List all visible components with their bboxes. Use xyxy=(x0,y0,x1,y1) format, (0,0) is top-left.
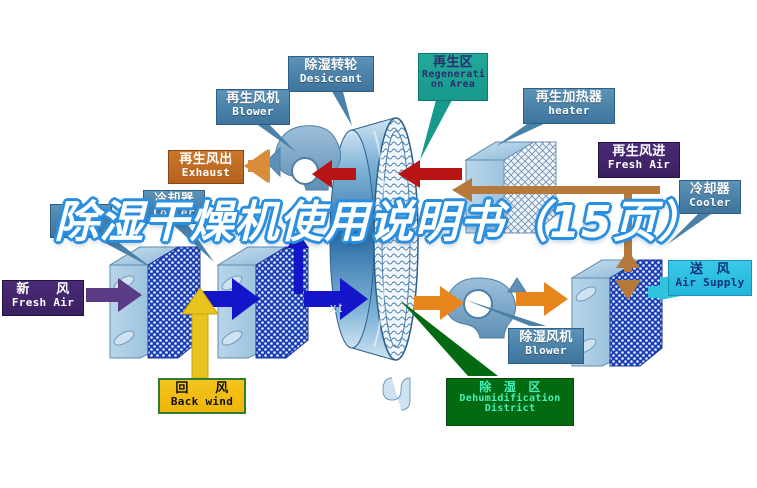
callout-label-en: Fresh Air xyxy=(602,159,676,171)
callout-label-cn: 除 湿 区 xyxy=(450,381,570,394)
callout-dehum-blower: 除湿风机Blower xyxy=(508,328,584,364)
callout-label-en: Cooler xyxy=(147,207,201,219)
callout-air-supply: 送 风Air Supply xyxy=(668,260,752,296)
callout-label-en: Blower xyxy=(220,106,286,118)
desiccant-rotor xyxy=(330,118,418,410)
callout-label-en: Cooler xyxy=(683,197,737,209)
callout-label-cn: 再生风机 xyxy=(220,92,286,106)
callout-back-wind: 回 风Back wind xyxy=(158,378,246,414)
callout-label-en: Fresh Air xyxy=(6,297,80,309)
callout-label-cn: 冷却器 xyxy=(147,193,201,207)
diagram-canvas: 除湿转轮Desiccant再生风机Blower再生区Regenerati on … xyxy=(0,0,757,488)
callout-exhaust: 再生风出Exhaust xyxy=(168,150,244,184)
cooler-unit-right xyxy=(572,260,662,366)
callout-label-cn: 冷却器 xyxy=(54,207,108,221)
watermark-text: xt xyxy=(330,300,344,315)
callout-label-en: heater xyxy=(527,105,611,117)
callout-label-cn: 除湿风机 xyxy=(512,331,580,345)
flow-arrow-exhaust-out xyxy=(244,149,270,183)
callout-fresh-air: 新 风Fresh Air xyxy=(2,280,84,316)
callout-label-cn: 再生加热器 xyxy=(527,91,611,105)
callout-label-cn: 冷却器 xyxy=(683,183,737,197)
schematic-svg xyxy=(0,0,757,488)
callout-desiccant: 除湿转轮Desiccant xyxy=(288,56,374,92)
callout-cooler-mid: 冷却器Cooler xyxy=(143,190,205,224)
callout-label-en: Exhaust xyxy=(172,167,240,179)
callout-label-en: Regenerati on Area xyxy=(422,70,484,91)
callout-label-cn: 新 风 xyxy=(6,283,80,297)
callout-label-cn: 除湿转轮 xyxy=(292,59,370,73)
callout-regen-fresh-air: 再生风进Fresh Air xyxy=(598,142,680,178)
callout-label-en: Air Supply xyxy=(672,277,748,289)
flow-arrow-blower-to-coil xyxy=(516,282,568,316)
callout-label-en: Desiccant xyxy=(292,73,370,85)
callout-cooler-right: 冷却器Cooler xyxy=(679,180,741,214)
callout-label-cn: 再生风进 xyxy=(602,145,676,159)
callout-dehum-district: 除 湿 区Dehumidification District xyxy=(446,378,574,426)
callout-regen-blower: 再生风机Blower xyxy=(216,89,290,125)
callout-label-cn: 再生风出 xyxy=(172,153,240,167)
callout-regen-heater: 再生加热器heater xyxy=(523,88,615,124)
callout-label-cn: 回 风 xyxy=(163,382,241,396)
callout-cooler-left: 冷却器Cooler xyxy=(50,204,112,238)
callout-label-cn: 再生区 xyxy=(422,56,484,70)
callout-label-en: Dehumidification District xyxy=(450,394,570,415)
callout-label-en: Cooler xyxy=(54,221,108,233)
callout-label-cn: 送 风 xyxy=(672,263,748,277)
callout-regen-area: 再生区Regenerati on Area xyxy=(418,53,488,101)
callout-label-en: Blower xyxy=(512,345,580,357)
callout-label-en: Back wind xyxy=(163,396,241,408)
